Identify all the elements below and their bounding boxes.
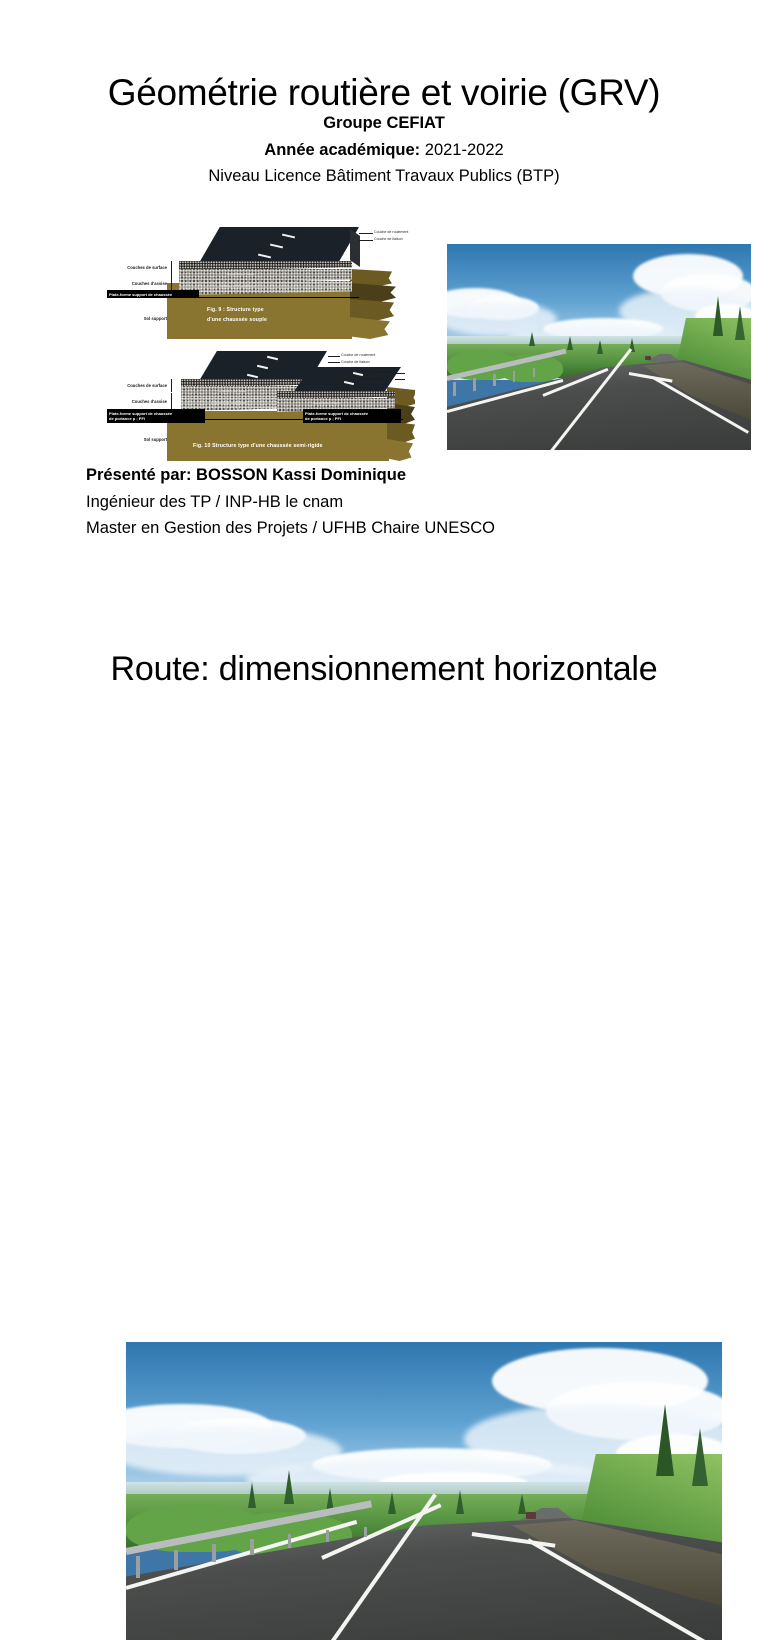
slide-route-dimensionnement: Route: dimensionnement horizontale (0, 600, 768, 1024)
guardrail-post (364, 1527, 367, 1537)
slide-title-page: Géométrie routière et voirie (GRV) Group… (0, 0, 768, 600)
subtitle-academic-year-value: 2021-2022 (420, 141, 504, 159)
bracket-assise (171, 275, 172, 291)
figure-9-caption-line2: d'une chaussée souple (207, 317, 267, 325)
guardrail-post (493, 374, 496, 386)
leader-line-roulement-b (395, 373, 405, 374)
label-couche-de-roulement: Couche de roulement (374, 230, 408, 235)
presenter-credits: Présenté par: BOSSON Kassi Dominique Ing… (86, 462, 495, 542)
bracket-assise (171, 393, 172, 409)
inner-layer-foundation-left: Couche de fondation (211, 401, 247, 405)
conifer-tree-large (735, 306, 745, 340)
guardrail-post (250, 1539, 254, 1555)
figure-9-flexible-pavement: Couche de base Couche de fondation Couch… (107, 221, 415, 347)
distant-car (645, 356, 651, 360)
bracket-surface (171, 379, 172, 392)
guardrail-post (174, 1550, 178, 1570)
subtitle-group: Groupe CEFIAT (0, 110, 768, 137)
conifer-tree (456, 1490, 464, 1514)
label-couches-dassise: Couches d'assise (109, 399, 167, 404)
pavement-structure-diagram: Couche de base Couche de fondation Couch… (107, 221, 415, 469)
presentation-page: Géométrie routière et voirie (GRV) Group… (0, 0, 768, 1024)
banner-plate-forme-left-line2: de portance p ; PFi (109, 416, 145, 421)
conifer-tree (567, 336, 573, 350)
figure-9-caption-line1: Fig. 9 : Structure type (207, 307, 264, 315)
subtitle-academic-year-label: Année académique: (264, 141, 420, 159)
guardrail-post (533, 368, 535, 377)
banner-plate-forme-left: Plate-forme support de chaussée de porta… (107, 409, 205, 423)
conifer-tree (248, 1482, 256, 1508)
label-couche-de-liaison: Couche de liaison (374, 237, 403, 242)
conifer-tree (284, 1470, 294, 1504)
inner-layer-base: Couche de base (227, 272, 255, 276)
inner-layer-foundation: Couche de fondation (219, 284, 255, 288)
label-couches-de-surface: Couches de surface (109, 265, 167, 270)
leader-line-liaison (359, 240, 373, 241)
label-sol-support: Sol support (109, 316, 167, 321)
guardrail-post (212, 1544, 216, 1562)
conifer-tree-large (692, 1428, 708, 1486)
credit-presenter-name: Présenté par: BOSSON Kassi Dominique (86, 462, 495, 489)
banner-plate-forme-right: Plate-forme support de chaussée de porta… (303, 409, 401, 423)
guardrail-post (513, 371, 515, 382)
figure-10-caption: Fig. 10 Structure type d'une chaussée se… (193, 443, 323, 451)
subtitle-level: Niveau Licence Bâtiment Travaux Publics … (0, 163, 768, 190)
guardrail-post (453, 382, 456, 396)
banner-plate-forme-left-line1: Plate-forme support de chaussée (109, 411, 172, 416)
conifer-tree-large (656, 1404, 674, 1476)
page-title: Géométrie routière et voirie (GRV) (0, 73, 768, 114)
inner-layer-base-left: Couche de base (219, 389, 247, 393)
banner-plate-forme-right-line2: de portance p ; PFi (305, 416, 341, 421)
credit-qualification-2: Master en Gestion des Projets / UFHB Cha… (86, 515, 495, 542)
label-couches-dassise: Couches d'assise (109, 281, 167, 286)
leader-line-roulement-a (328, 356, 340, 357)
soil-edge-lower (387, 421, 415, 443)
conifer-tree (529, 332, 535, 346)
credit-qualification-1: Ingénieur des TP / INP-HB le cnam (86, 489, 495, 516)
conifer-tree-large (713, 296, 723, 336)
inner-layer-base-right: Couche de base (313, 401, 341, 405)
highway-curve-photo (447, 244, 751, 450)
slide-2-title: Route: dimensionnement horizontale (0, 650, 768, 689)
guardrail-post (326, 1530, 329, 1542)
banner-plate-forme-right-line1: Plate-forme support de chaussée (305, 411, 368, 416)
conifer-tree (518, 1494, 526, 1514)
subtitle-block: Groupe CEFIAT Année académique: 2021-202… (0, 110, 768, 190)
label-couche-de-liaison-a: Couche de liaison (341, 360, 370, 365)
conifer-tree (597, 340, 603, 354)
label-couche-de-liaison-b: Couche de liaison (357, 377, 386, 382)
highway-curve-photo-large (126, 1342, 722, 1640)
conifer-tree (388, 1492, 396, 1514)
subtitle-academic-year: Année académique: 2021-2022 (0, 137, 768, 164)
banner-plate-forme-support: Plate-forme support de chaussée (107, 290, 199, 298)
distant-car (526, 1512, 536, 1519)
guardrail-post (288, 1534, 291, 1548)
bracket-surface (171, 261, 172, 275)
leader-line-liaison-a (328, 362, 340, 363)
label-couches-de-surface: Couches de surface (109, 383, 167, 388)
leader-line-liaison-b (395, 379, 405, 380)
label-couche-de-roulement-b: Couche de roulement (357, 370, 391, 375)
leader-line-roulement (359, 233, 373, 234)
soil-edge-lower (350, 299, 394, 321)
guardrail-post (473, 378, 476, 391)
soil-edge-bottom (350, 317, 390, 339)
figure-10-semi-rigid-pavement: Couche de base Couche de fondation Couch… (107, 349, 415, 469)
label-couche-de-roulement-a: Couche de roulement (341, 353, 375, 358)
soil-edge-bottom (387, 439, 413, 461)
guardrail-post (136, 1556, 140, 1578)
label-sol-support: Sol support (109, 437, 167, 442)
